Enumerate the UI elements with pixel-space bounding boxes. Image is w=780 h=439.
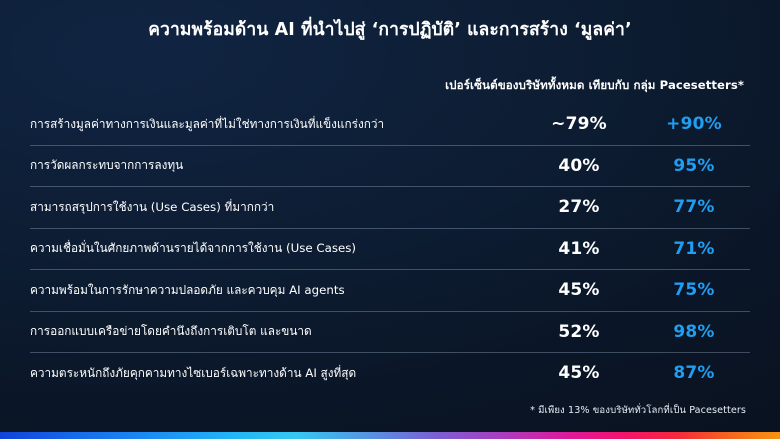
row-value-pacesetters: 75% [638, 280, 750, 300]
row-value-all-companies: 52% [520, 322, 638, 342]
row-value-pacesetters: 98% [638, 322, 750, 342]
title-container: ความพร้อมด้าน AI ที่นำไปสู่ ‘การปฏิบัติ’… [0, 20, 780, 42]
column-header-container: เปอร์เซ็นต์ของบริษัททั้งหมด เทียบกับ กลุ… [0, 74, 780, 95]
table-row: การออกแบบเครือข่ายโดยคำนึงถึงการเติบโต แ… [30, 312, 750, 354]
table-row: สามารถสรุปการใช้งาน (Use Cases) ที่มากกว… [30, 187, 750, 229]
row-label: ความตระหนักถึงภัยคุกคามทางไซเบอร์เฉพาะทา… [30, 366, 520, 381]
row-label: การออกแบบเครือข่ายโดยคำนึงถึงการเติบโต แ… [30, 324, 520, 339]
row-value-all-companies: 27% [520, 197, 638, 217]
metrics-table: การสร้างมูลค่าทางการเงินและมูลค่าที่ไม่ใ… [30, 104, 750, 394]
row-value-all-companies: ~79% [520, 114, 638, 134]
row-label: การสร้างมูลค่าทางการเงินและมูลค่าที่ไม่ใ… [30, 117, 520, 132]
row-value-all-companies: 40% [520, 156, 638, 176]
bottom-gradient-bar [0, 432, 780, 439]
row-value-pacesetters: 87% [638, 363, 750, 383]
row-value-all-companies: 41% [520, 239, 638, 259]
row-label: ความพร้อมในการรักษาความปลอดภัย และควบคุม… [30, 283, 520, 298]
row-value-pacesetters: 77% [638, 197, 750, 217]
footnote-container: * มีเพียง 13% ของบริษัททั่วโลกที่เป็น Pa… [0, 398, 780, 418]
row-value-all-companies: 45% [520, 363, 638, 383]
slide-root: ความพร้อมด้าน AI ที่นำไปสู่ ‘การปฏิบัติ’… [0, 0, 780, 439]
table-row: การวัดผลกระทบจากการลงทุน 40% 95% [30, 146, 750, 188]
table-row: ความตระหนักถึงภัยคุกคามทางไซเบอร์เฉพาะทา… [30, 353, 750, 394]
row-value-all-companies: 45% [520, 280, 638, 300]
row-value-pacesetters: 95% [638, 156, 750, 176]
row-label: ความเชื่อมั่นในศักยภาพด้านรายได้จากการใช… [30, 241, 520, 256]
table-row: ความเชื่อมั่นในศักยภาพด้านรายได้จากการใช… [30, 229, 750, 271]
column-header-label: เปอร์เซ็นต์ของบริษัททั้งหมด เทียบกับ กลุ… [445, 77, 744, 95]
row-label: สามารถสรุปการใช้งาน (Use Cases) ที่มากกว… [30, 200, 520, 215]
footnote-text: * มีเพียง 13% ของบริษัททั่วโลกที่เป็น Pa… [530, 403, 746, 418]
page-title: ความพร้อมด้าน AI ที่นำไปสู่ ‘การปฏิบัติ’… [0, 20, 780, 42]
table-row: ความพร้อมในการรักษาความปลอดภัย และควบคุม… [30, 270, 750, 312]
row-value-pacesetters: +90% [638, 114, 750, 134]
row-value-pacesetters: 71% [638, 239, 750, 259]
row-label: การวัดผลกระทบจากการลงทุน [30, 158, 520, 173]
table-row: การสร้างมูลค่าทางการเงินและมูลค่าที่ไม่ใ… [30, 104, 750, 146]
